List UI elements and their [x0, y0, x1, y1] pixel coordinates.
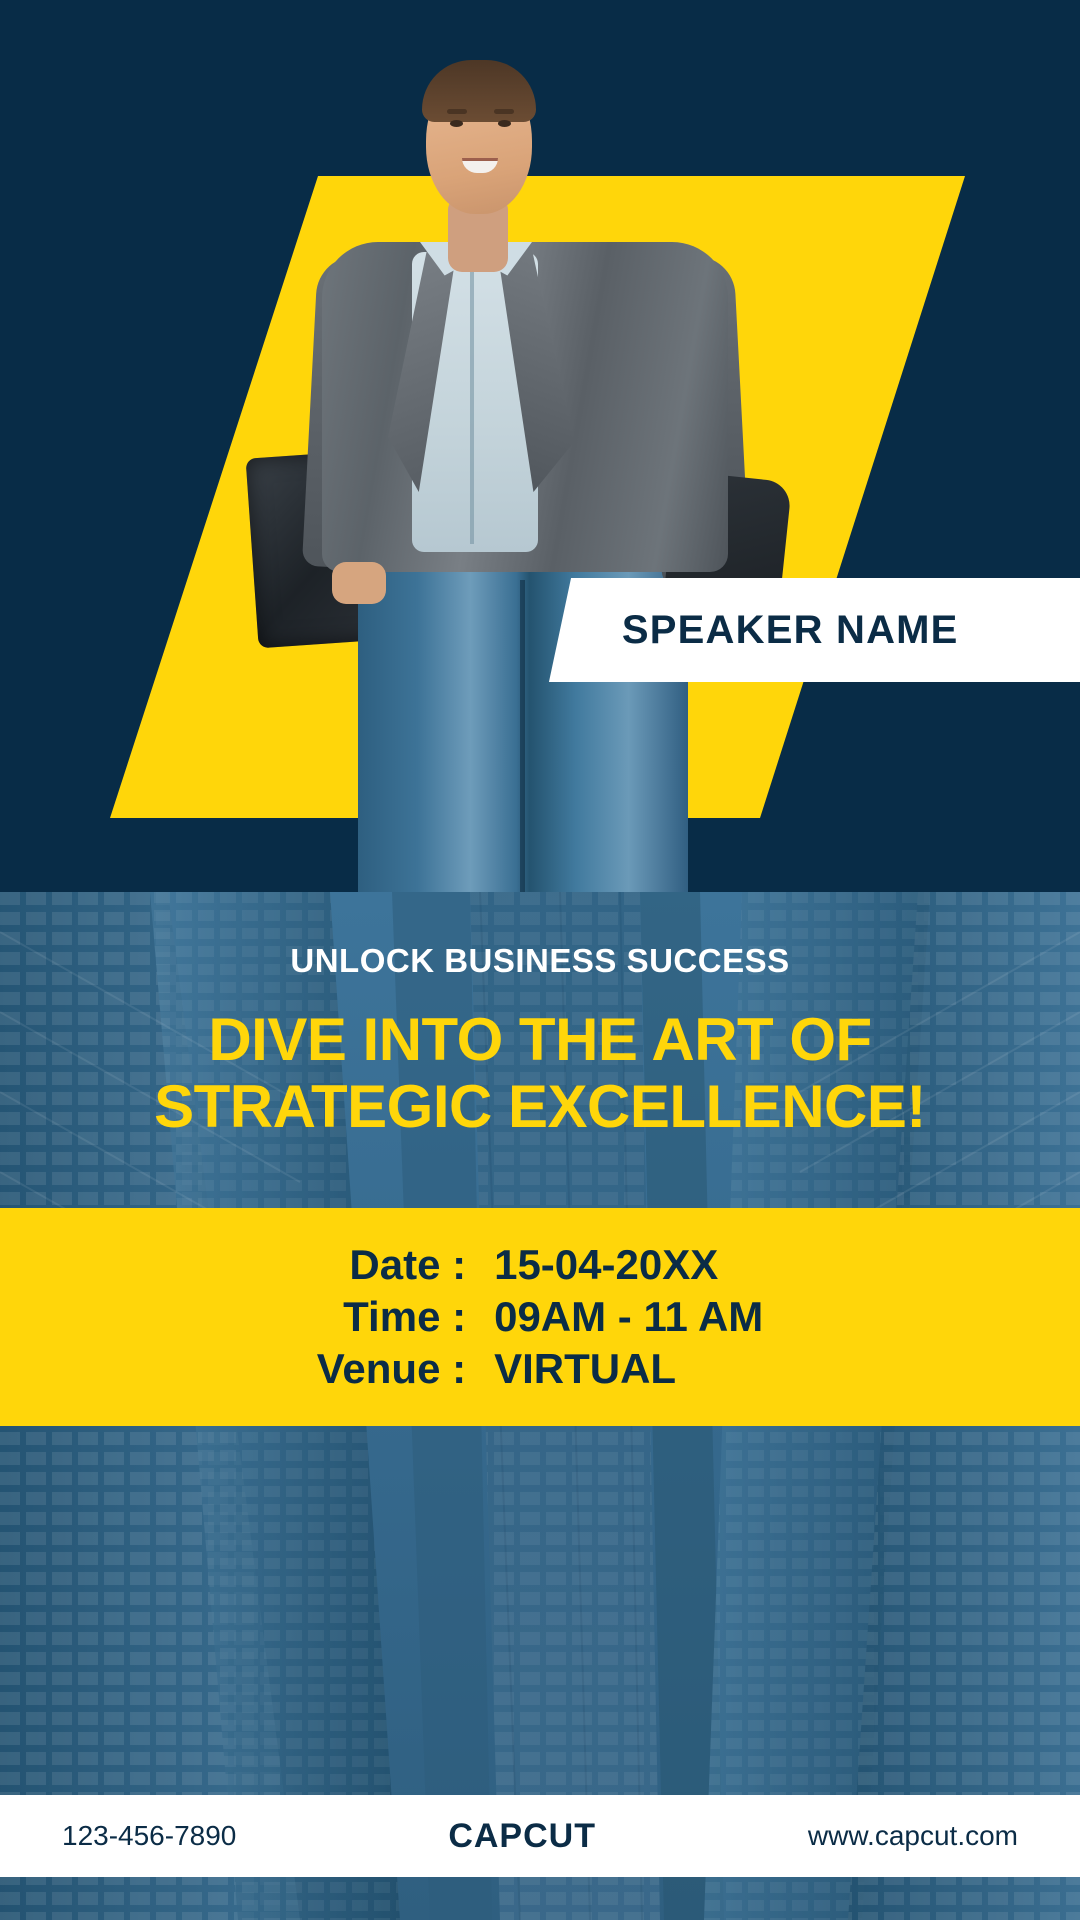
figure-eye-right	[498, 120, 511, 127]
event-details-band: Date : 15-04-20XX Time : 09AM - 11 AM Ve…	[0, 1208, 1080, 1426]
headline-text: DIVE INTO THE ART OF STRATEGIC EXCELLENC…	[0, 1006, 1080, 1140]
figure-brow-right	[494, 109, 514, 114]
detail-value-date: 15-04-20XX	[494, 1241, 763, 1289]
footer-phone[interactable]: 123-456-7890	[62, 1820, 236, 1852]
detail-value-venue: VIRTUAL	[494, 1345, 763, 1393]
footer-bar: 123-456-7890 CAPCUT www.capcut.com	[0, 1795, 1080, 1877]
figure-eye-left	[450, 120, 463, 127]
headline-line-1: DIVE INTO THE ART OF	[0, 1006, 1080, 1073]
speaker-name-label: SPEAKER NAME	[622, 608, 959, 653]
footer-brand: CAPCUT	[448, 1817, 596, 1856]
hero-section: SPEAKER NAME	[0, 0, 1080, 892]
figure-brow-left	[447, 109, 467, 114]
headline-block: UNLOCK BUSINESS SUCCESS DIVE INTO THE AR…	[0, 942, 1080, 1140]
detail-label-date: Date :	[317, 1241, 466, 1289]
detail-label-time: Time :	[317, 1293, 466, 1341]
detail-value-time: 09AM - 11 AM	[494, 1293, 763, 1341]
footer-website[interactable]: www.capcut.com	[808, 1820, 1018, 1852]
detail-label-venue: Venue :	[317, 1345, 466, 1393]
speaker-photo	[270, 46, 790, 892]
headline-line-2: STRATEGIC EXCELLENCE!	[0, 1073, 1080, 1140]
event-details-grid: Date : 15-04-20XX Time : 09AM - 11 AM Ve…	[317, 1241, 764, 1393]
event-poster: SPEAKER NAME	[0, 0, 1080, 1920]
speaker-name-badge: SPEAKER NAME	[549, 578, 1080, 682]
figure-hair	[422, 60, 536, 122]
figure-hand	[332, 562, 386, 604]
eyebrow-text: UNLOCK BUSINESS SUCCESS	[0, 942, 1080, 980]
